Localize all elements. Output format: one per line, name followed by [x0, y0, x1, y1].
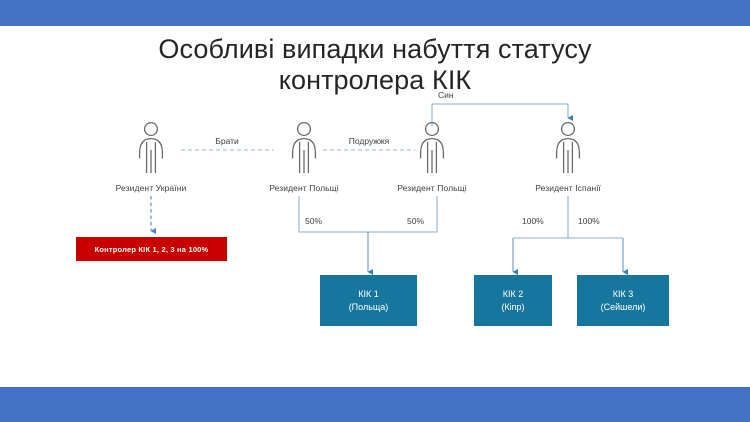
entity-jurisdiction-kik-3: (Сейшели) — [601, 301, 646, 314]
person-icon-resident-poland-2 — [412, 120, 452, 176]
controller-status-label: Контролер КІК 1, 2, 3 на 100% — [95, 245, 209, 254]
label-resident-poland-2: Резидент Польщі — [382, 183, 482, 193]
entity-jurisdiction-kik-2: (Кіпр) — [501, 301, 524, 314]
label-resident-spain: Резидент Іспанії — [518, 183, 618, 193]
entity-name-kik-1: КІК 1 — [358, 288, 379, 301]
entity-name-kik-2: КІК 2 — [503, 288, 524, 301]
connector-poland-to-kik1 — [299, 196, 437, 272]
connector-spain-to-kik2-kik3 — [513, 196, 623, 272]
relation-label-brothers: Брати — [182, 136, 272, 146]
entity-jurisdiction-kik-1: (Польща) — [349, 301, 389, 314]
controller-status-box: Контролер КІК 1, 2, 3 на 100% — [76, 237, 227, 261]
ownership-label-poland2-kik1: 50% — [407, 216, 424, 226]
entity-box-kik-1: КІК 1 (Польща) — [320, 275, 417, 326]
relation-label-son: Син — [438, 90, 488, 100]
entity-box-kik-3: КІК 3 (Сейшели) — [577, 275, 669, 326]
ownership-label-spain-kik3: 100% — [578, 216, 600, 226]
slide: Особливі випадки набуття статусу контрол… — [0, 0, 750, 422]
person-icon-resident-ukraine — [131, 120, 171, 176]
person-icon-resident-spain — [548, 120, 588, 176]
ownership-label-spain-kik2: 100% — [522, 216, 544, 226]
person-icon-resident-poland-1 — [284, 120, 324, 176]
relation-label-spouses: Подружжя — [324, 136, 414, 146]
org-diagram — [0, 0, 750, 422]
label-resident-poland-1: Резидент Польщі — [254, 183, 354, 193]
label-resident-ukraine: Резидент України — [101, 183, 201, 193]
entity-box-kik-2: КІК 2 (Кіпр) — [474, 275, 552, 326]
ownership-label-poland1-kik1: 50% — [305, 216, 322, 226]
entity-name-kik-3: КІК 3 — [613, 288, 634, 301]
